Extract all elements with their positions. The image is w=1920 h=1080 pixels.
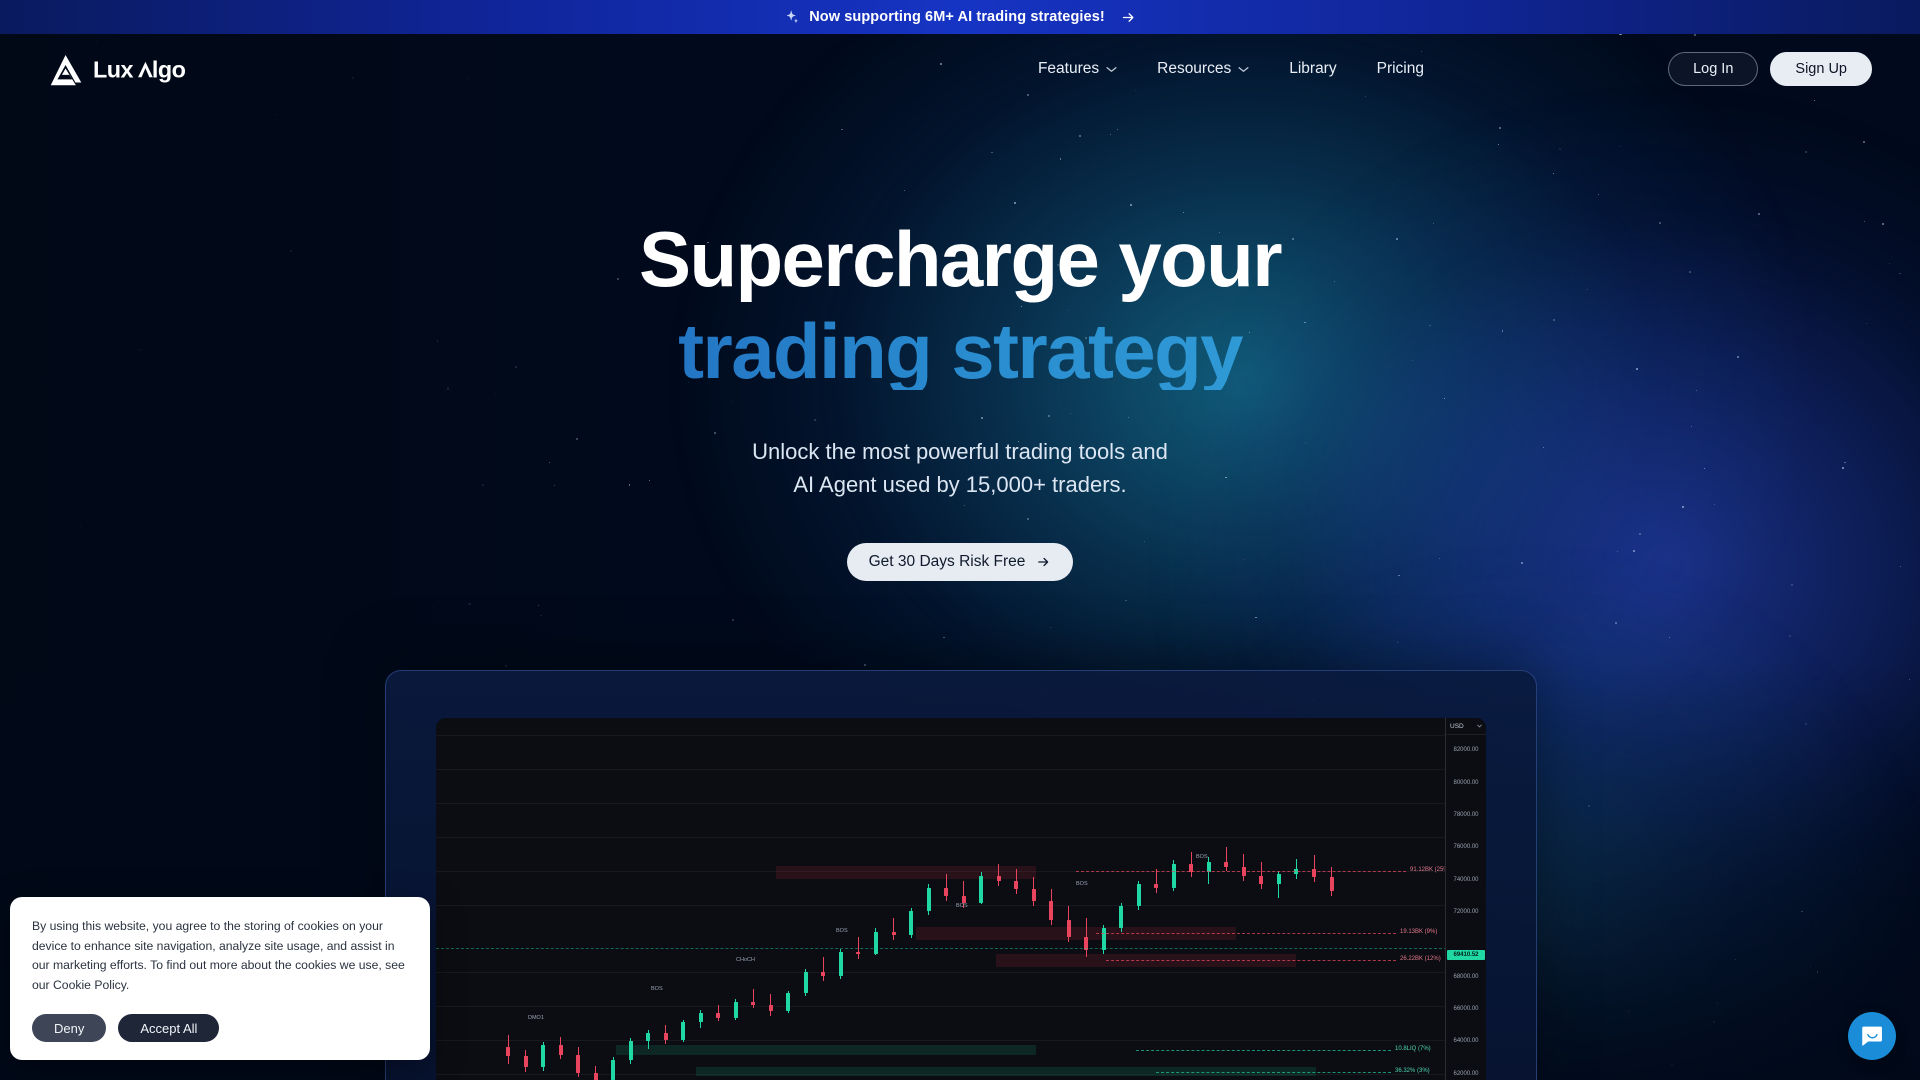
chart-gridline: [436, 972, 1445, 973]
price-axis-tick: 80000.00: [1446, 780, 1486, 786]
price-axis-tick: 78000.00: [1446, 812, 1486, 818]
hero-subtitle-line-1: Unlock the most powerful trading tools a…: [0, 436, 1920, 469]
candle-body: [927, 888, 931, 912]
candlestick: [1242, 854, 1246, 881]
candlestick: [629, 1038, 633, 1063]
candle-body: [962, 896, 966, 903]
signup-button[interactable]: Sign Up: [1770, 52, 1872, 86]
chart-gridline: [436, 905, 1445, 906]
candlestick: [874, 928, 878, 955]
candlestick: [909, 908, 913, 939]
headline-line-2: trading strategy: [0, 312, 1920, 390]
main-navigation: Lux lgo Features Resources Library Prici…: [0, 34, 1920, 104]
candle-body: [629, 1041, 633, 1060]
candlestick: [1049, 889, 1053, 925]
trading-chart[interactable]: 91.12BK (25%)19.13BK (9%)26.22BK (12%)10…: [436, 718, 1486, 1080]
candle-body: [576, 1055, 580, 1073]
get-risk-free-trial-button[interactable]: Get 30 Days Risk Free: [847, 543, 1074, 581]
candle-body: [506, 1047, 510, 1056]
chart-gridline: [436, 837, 1445, 838]
candle-body: [786, 993, 790, 1012]
cookie-banner-actions: Deny Accept All: [32, 1014, 408, 1042]
candle-wick: [893, 918, 894, 940]
candlestick: [769, 994, 773, 1016]
candle-body: [892, 932, 896, 935]
price-axis-tick: 72000.00: [1446, 909, 1486, 915]
chart-level-line: [1136, 1050, 1391, 1051]
chart-level-line: [1096, 933, 1396, 934]
candle-body: [944, 888, 948, 896]
candle-body: [541, 1045, 545, 1067]
candlestick: [681, 1020, 685, 1042]
candle-wick: [998, 864, 999, 886]
hero-cta-wrapper: Get 30 Days Risk Free: [0, 543, 1920, 581]
candlestick: [1084, 918, 1088, 957]
logo[interactable]: Lux lgo: [48, 53, 223, 86]
chart-gridline: [436, 1040, 1445, 1041]
candle-body: [874, 932, 878, 954]
candlestick: [1172, 860, 1176, 891]
candle-body: [524, 1056, 528, 1067]
chart-level-label: 19.13BK (9%): [1400, 929, 1437, 935]
candle-body: [1032, 889, 1036, 901]
currency-label: USD: [1450, 723, 1464, 730]
candlestick: [997, 864, 1001, 886]
nav-item-features-label: Features: [1038, 60, 1099, 78]
chart-preview-card: 91.12BK (25%)19.13BK (9%)26.22BK (12%)10…: [385, 670, 1537, 1080]
candle-body: [734, 1002, 738, 1018]
price-axis-tick: 74000.00: [1446, 877, 1486, 883]
candle-body: [1172, 864, 1176, 888]
candle-body: [1330, 877, 1334, 891]
nav-links: Features Resources Library Pricing: [1038, 60, 1424, 78]
candlestick: [594, 1066, 598, 1080]
nav-item-features[interactable]: Features: [1038, 60, 1117, 78]
chart-structure-tag: BOS: [956, 903, 968, 909]
luxalgo-triangle-icon: [48, 53, 84, 86]
candlestick: [944, 874, 948, 901]
candle-body: [1277, 874, 1281, 884]
candle-body: [1137, 884, 1141, 906]
logo-wordmark: Lux lgo: [93, 55, 223, 83]
chart-gridline: [436, 735, 1445, 736]
candle-body: [751, 1002, 755, 1005]
chat-widget-button[interactable]: [1848, 1012, 1896, 1060]
candle-body: [611, 1060, 615, 1080]
chart-plot-area[interactable]: 91.12BK (25%)19.13BK (9%)26.22BK (12%)10…: [436, 718, 1445, 1080]
candlestick: [821, 957, 825, 981]
candle-body: [1014, 881, 1018, 889]
candle-wick: [753, 989, 754, 1008]
candle-body: [1224, 862, 1228, 867]
deny-cookies-button[interactable]: Deny: [32, 1014, 106, 1042]
chat-bubble-icon: [1860, 1024, 1884, 1048]
current-price-label: 69410.52: [1447, 950, 1485, 960]
chart-level-line: [1156, 1072, 1391, 1073]
chart-level-label: 10.8LIQ (7%): [1395, 1046, 1431, 1052]
price-axis-tick: 62000.00: [1446, 1071, 1486, 1077]
candlestick: [1154, 869, 1158, 893]
candlestick: [716, 1005, 720, 1022]
cta-label: Get 30 Days Risk Free: [869, 553, 1026, 571]
svg-text:lgo: lgo: [152, 56, 186, 82]
nav-actions: Log In Sign Up: [1668, 52, 1872, 86]
chart-gridline: [436, 803, 1445, 804]
chart-level-line: [1106, 960, 1396, 961]
candlestick: [541, 1042, 545, 1071]
candle-body: [1049, 901, 1053, 920]
chart-liquidity-zone: [616, 1045, 1036, 1055]
login-button[interactable]: Log In: [1668, 52, 1758, 86]
nav-item-pricing[interactable]: Pricing: [1377, 60, 1424, 78]
price-axis-tick: 64000.00: [1446, 1038, 1486, 1044]
candle-body: [1067, 920, 1071, 937]
candle-body: [716, 1013, 720, 1018]
candlestick: [1137, 881, 1141, 910]
price-axis-tick: 76000.00: [1446, 844, 1486, 850]
candlestick: [646, 1030, 650, 1049]
candle-body: [839, 952, 843, 976]
price-axis-tick: 68000.00: [1446, 974, 1486, 980]
candlestick: [506, 1035, 510, 1064]
hero-section: Supercharge your trading strategy Unlock…: [0, 104, 1920, 581]
chart-structure-tag: BOS: [836, 928, 848, 934]
hero-subtitle-line-2: AI Agent used by 15,000+ traders.: [0, 469, 1920, 502]
chart-structure-tag: BOS: [651, 986, 663, 992]
nav-item-resources-label: Resources: [1157, 60, 1231, 78]
candlestick: [664, 1025, 668, 1044]
candle-body: [856, 952, 860, 954]
candlestick: [1067, 906, 1071, 942]
chart-level-label: 91.12BK (25%): [1410, 867, 1445, 873]
chevron-down-icon: [1477, 724, 1482, 728]
announcement-text: Now supporting 6M+ AI trading strategies…: [809, 9, 1105, 25]
nav-item-library-label: Library: [1289, 60, 1336, 78]
candlestick: [1259, 862, 1263, 889]
candle-body: [821, 972, 825, 975]
candlestick: [1277, 871, 1281, 898]
candle-body: [594, 1073, 598, 1080]
cookie-consent-banner: By using this website, you agree to the …: [10, 897, 430, 1060]
accept-all-cookies-button[interactable]: Accept All: [118, 1014, 219, 1042]
candlestick: [524, 1050, 528, 1072]
candlestick: [751, 989, 755, 1008]
nav-item-library[interactable]: Library: [1289, 60, 1336, 78]
candle-body: [1119, 906, 1123, 928]
candlestick: [892, 918, 896, 940]
candlestick: [927, 884, 931, 915]
candle-body: [1259, 876, 1263, 884]
arrow-right-icon: [1036, 555, 1051, 569]
price-axis-tick: 82000.00: [1446, 747, 1486, 753]
chart-level-label: 36.32% (3%): [1395, 1068, 1430, 1074]
candle-body: [909, 911, 913, 935]
candlestick: [1294, 859, 1298, 879]
chart-structure-tag: CHoCH: [736, 957, 755, 963]
nav-item-pricing-label: Pricing: [1377, 60, 1424, 78]
candlestick: [839, 949, 843, 980]
candlestick: [1189, 852, 1193, 877]
candlestick: [699, 1010, 703, 1029]
arrow-right-icon: [1121, 10, 1136, 25]
candle-body: [681, 1022, 685, 1040]
candle-body: [804, 972, 808, 992]
chevron-down-icon: [1238, 66, 1249, 73]
candle-body: [769, 1005, 773, 1012]
candle-body: [664, 1033, 668, 1040]
candle-body: [646, 1033, 650, 1041]
price-axis-header[interactable]: USD: [1446, 718, 1486, 735]
candlestick: [1312, 855, 1316, 882]
chart-gridline: [436, 1006, 1445, 1007]
chart-structure-tag: BOS: [1076, 881, 1088, 887]
candle-body: [979, 876, 983, 903]
candlestick: [1119, 903, 1123, 932]
price-axis[interactable]: USD 82000.0080000.0078000.0076000.007400…: [1445, 718, 1486, 1080]
current-price-line: [436, 948, 1445, 949]
page-title: Supercharge your trading strategy: [0, 220, 1920, 390]
chart-structure-tag: BOS: [1196, 854, 1208, 860]
announcement-bar-content[interactable]: Now supporting 6M+ AI trading strategies…: [784, 9, 1136, 25]
cookie-banner-text: By using this website, you agree to the …: [32, 917, 408, 996]
announcement-bar[interactable]: Now supporting 6M+ AI trading strategies…: [0, 0, 1920, 34]
candle-body: [1154, 884, 1158, 887]
candle-body: [699, 1013, 703, 1022]
candle-wick: [823, 957, 824, 981]
candlestick: [576, 1047, 580, 1078]
candle-wick: [1226, 847, 1227, 871]
candlestick: [559, 1037, 563, 1059]
candle-body: [559, 1045, 563, 1055]
chart-gridline: [436, 769, 1445, 770]
candlestick: [979, 872, 983, 904]
candle-body: [997, 876, 1001, 881]
headline-line-1: Supercharge your: [0, 220, 1920, 298]
chart-level-label: 26.22BK (12%): [1400, 956, 1441, 962]
chevron-down-icon: [1106, 66, 1117, 73]
candlestick: [611, 1057, 615, 1080]
candlestick: [734, 999, 738, 1019]
candlestick: [786, 991, 790, 1013]
price-axis-tick: 66000.00: [1446, 1006, 1486, 1012]
chart-structure-tag: DMO1: [528, 1015, 544, 1021]
candlestick: [1224, 847, 1228, 871]
nav-item-resources[interactable]: Resources: [1157, 60, 1249, 78]
candlestick: [804, 969, 808, 996]
candlestick: [1032, 877, 1036, 906]
candle-body: [1102, 928, 1106, 950]
svg-text:Lux: Lux: [93, 56, 134, 82]
candlestick: [1014, 869, 1018, 894]
hero-subtitle: Unlock the most powerful trading tools a…: [0, 436, 1920, 501]
candle-wick: [1156, 869, 1157, 893]
sparkle-icon: [784, 10, 799, 25]
chart-level-line: [1076, 871, 1406, 872]
